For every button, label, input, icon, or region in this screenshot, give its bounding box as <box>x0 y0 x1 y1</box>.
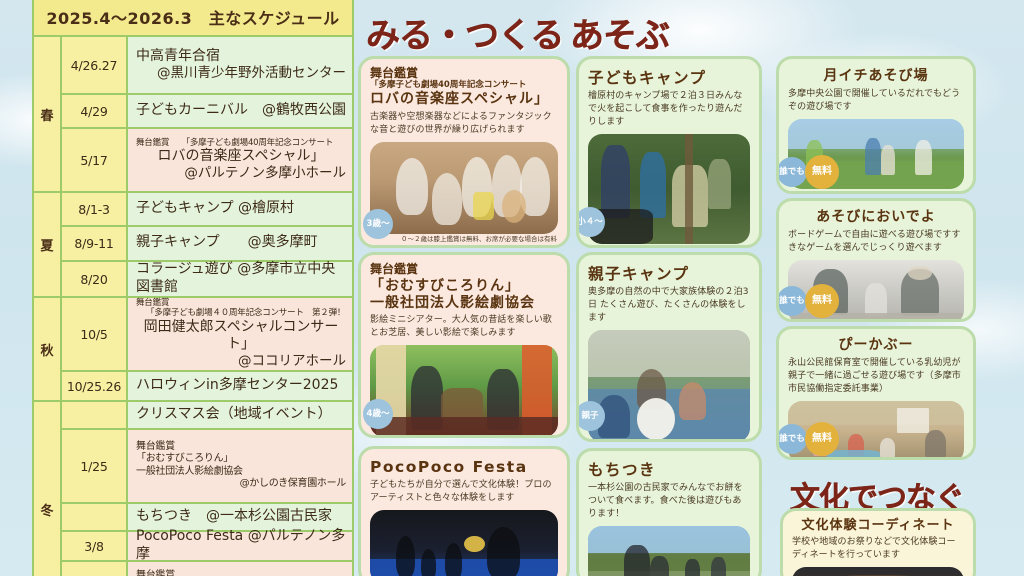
column-heading-miru-tsukuru: みる・つくる <box>366 8 563 57</box>
card-photo-omusubi <box>370 345 558 437</box>
schedule-row[interactable]: 10/25.26ハロウィンin多摩センター2025 <box>62 372 352 400</box>
card-title: 一般社団法人影絵劇協会 <box>370 295 558 312</box>
event-line: 舞台鑑賞 <box>136 570 346 576</box>
card-photo-roba <box>370 142 558 234</box>
card-subtitle: 「おむすびころりん」 <box>370 278 558 295</box>
schedule-title: 2025.4〜2026.3 主なスケジュール <box>34 0 352 37</box>
schedule-row[interactable]: 10/5舞台鑑賞「多摩子ども劇場４０周年記念コンサート 第２弾！岡田健太郎スペシ… <box>62 298 352 372</box>
event-line: もちつき @一本杉公園古民家 <box>136 508 346 525</box>
card-title: ぴーかぶー <box>788 337 964 354</box>
event-line: 岡田健太郎スペシャルコンサート」 <box>136 319 346 353</box>
event-line: 「多摩子ども劇場４０周年記念コンサート 第２弾！ <box>136 308 346 318</box>
card-oyako-camp[interactable]: 親子キャンプ 奥多摩の自然の中で大家族体験の２泊3日 たくさん遊び、たくさんの体… <box>576 252 762 442</box>
event-line: 舞台鑑賞 「多摩子ども劇場40周年記念コンサート <box>136 138 346 148</box>
season-label: 秋 <box>34 298 62 400</box>
card-omusubi-kororin[interactable]: 舞台鑑賞 「おむすびころりん」 一般社団法人影絵劇協会 影絵ミニシアター。大人気… <box>358 252 570 438</box>
event-line: 子どもカーニバル @鶴牧西公園 <box>136 102 346 119</box>
event-line: 舞台鑑賞 <box>136 298 346 308</box>
card-title: ロバの音楽座スペシャル」 <box>370 91 558 108</box>
card-photo-bunka <box>792 567 964 576</box>
card-asobini-oideyo[interactable]: あそびにおいでよ ボードゲームで自由に遊べる遊び場ですすきなゲームを選んでじっく… <box>776 198 976 322</box>
schedule-row[interactable]: 5/17舞台鑑賞 「多摩子ども劇場40周年記念コンサートロバの音楽座スペシャル」… <box>62 129 352 191</box>
event-date: 4/29 <box>62 95 128 127</box>
event-line: 舞台鑑賞 <box>136 441 346 453</box>
price-badge: 無料 <box>805 422 839 456</box>
season-events: 10/5舞台鑑賞「多摩子ども劇場４０周年記念コンサート 第２弾！岡田健太郎スペシ… <box>62 298 352 400</box>
photo-figures <box>370 345 558 437</box>
event-description: 舞台鑑賞「劇団鳥獣戯画 狂言ミュージカル」@八王子市内（予定） <box>128 562 352 576</box>
event-description: 中高青年合宿@黒川青少年野外活動センター <box>128 37 352 93</box>
event-line: @ココリアホール <box>136 353 346 369</box>
event-line: 一般社団法人影絵劇協会 <box>136 466 346 478</box>
card-photo-oyako-camp <box>588 330 750 442</box>
schedule-body: 春4/26.27中高青年合宿@黒川青少年野外活動センター4/29子どもカーニバル… <box>34 37 352 576</box>
card-description: 古楽器や空想楽器などによるファンタジックな音と遊びの世界が繰り広げられます <box>370 111 558 137</box>
season-label: 夏 <box>34 193 62 296</box>
schedule-row[interactable]: 8/20コラージュ遊び @多摩市立中央図書館 <box>62 262 352 296</box>
event-date: 8/20 <box>62 262 128 296</box>
event-description: コラージュ遊び @多摩市立中央図書館 <box>128 262 352 296</box>
card-title: 親子キャンプ <box>588 265 750 283</box>
event-description: 子どもキャンプ @檜原村 <box>128 193 352 225</box>
price-badge: 無料 <box>805 155 839 189</box>
card-caption: ０〜２歳は膝上鑑賞は無料、お席が必要な場合は有料 <box>395 233 563 243</box>
event-description: 親子キャンプ @奥多摩町 <box>128 227 352 260</box>
schedule-row[interactable]: 4/26.27中高青年合宿@黒川青少年野外活動センター <box>62 37 352 95</box>
event-line: クリスマス会（地域イベント） <box>136 406 346 423</box>
schedule-row[interactable]: 1/25舞台鑑賞「おむすびころりん」一般社団法人影絵劇協会@かしのき保育園ホール <box>62 430 352 504</box>
event-description: 舞台鑑賞 「多摩子ども劇場40周年記念コンサートロバの音楽座スペシャル」@パルテ… <box>128 129 352 191</box>
season-events: クリスマス会（地域イベント）1/25舞台鑑賞「おむすびころりん」一般社団法人影絵… <box>62 402 352 576</box>
event-date: 10/25.26 <box>62 372 128 400</box>
card-description: 子どもたちが自分で選んで文化体験！プロのアーティストと色々な体験をします <box>370 479 558 505</box>
event-line: ハロウィンin多摩センター2025 <box>136 377 346 394</box>
audience-badge: 誰でも <box>777 286 807 316</box>
card-description: 学校や地域のお祭りなどで文化体験コーディネートを行っています <box>792 536 964 562</box>
season-label: 冬 <box>34 402 62 576</box>
event-date: 3/15 <box>62 562 128 576</box>
card-roba-concert[interactable]: 舞台鑑賞 「多摩子ども劇場40周年記念コンサート ロバの音楽座スペシャル」 古楽… <box>358 56 570 248</box>
card-kicker: 舞台鑑賞 <box>370 66 558 80</box>
event-date: 10/5 <box>62 298 128 370</box>
card-kodomo-camp[interactable]: 子どもキャンプ 檜原村のキャンプ場で２泊３日みんなで火を起こして食事を作ったり遊… <box>576 56 762 248</box>
event-line: 中高青年合宿 <box>136 48 346 65</box>
event-line: ロバの音楽座スペシャル」 <box>136 148 346 165</box>
event-date <box>62 402 128 428</box>
event-line: 「おむすびころりん」 <box>136 453 346 465</box>
card-mochitsuki[interactable]: もちつき 一本杉公園の古民家でみんなでお餅をついて食べます。食べた後は遊びもあり… <box>576 448 762 576</box>
schedule-row[interactable]: クリスマス会（地域イベント） <box>62 402 352 430</box>
event-description: 舞台鑑賞「多摩子ども劇場４０周年記念コンサート 第２弾！岡田健太郎スペシャルコン… <box>128 298 352 370</box>
schedule-row[interactable]: 4/29子どもカーニバル @鶴牧西公園 <box>62 95 352 129</box>
event-description: クリスマス会（地域イベント） <box>128 402 352 428</box>
card-description: 多摩中央公園で開催しているだれでもどうぞの遊び場です <box>788 88 964 114</box>
event-date: 8/1-3 <box>62 193 128 225</box>
photo-figures <box>792 567 964 576</box>
season-label: 春 <box>34 37 62 191</box>
card-title: もちつき <box>588 461 750 479</box>
event-description: PocoPoco Festa @パルテノン多摩 <box>128 532 352 560</box>
season-row: 夏8/1-3子どもキャンプ @檜原村8/9-11親子キャンプ @奥多摩町8/20… <box>34 193 352 298</box>
photo-figures <box>588 330 750 442</box>
event-date: 5/17 <box>62 129 128 191</box>
audience-badge: 誰でも <box>777 424 807 454</box>
card-description: ボードゲームで自由に遊べる遊び場ですすきなゲームを選んでじっくり遊べます <box>788 229 964 255</box>
schedule-row[interactable]: 3/8PocoPoco Festa @パルテノン多摩 <box>62 532 352 562</box>
event-description: ハロウィンin多摩センター2025 <box>128 372 352 400</box>
age-badge: 小４〜 <box>576 207 605 237</box>
card-description: 一本杉公園の古民家でみんなでお餅をついて食べます。食べた後は遊びもあります！ <box>588 482 750 521</box>
audience-badge: 誰でも <box>777 157 807 187</box>
card-description: 永山公民館保育室で開催している乳幼児が親子で一緒に過ごせる遊び場です（多摩市市民… <box>788 357 964 396</box>
season-events: 4/26.27中高青年合宿@黒川青少年野外活動センター4/29子どもカーニバル … <box>62 37 352 191</box>
photo-figures <box>370 142 558 234</box>
event-date: 8/9-11 <box>62 227 128 260</box>
card-pocopoco-festa[interactable]: PocoPoco Festa 子どもたちが自分で選んで文化体験！プロのアーティス… <box>358 446 570 576</box>
card-subtitle: 「多摩子ども劇場40周年記念コンサート <box>370 80 558 90</box>
season-row: 冬クリスマス会（地域イベント）1/25舞台鑑賞「おむすびころりん」一般社団法人影… <box>34 402 352 576</box>
schedule-row[interactable]: 8/9-11親子キャンプ @奥多摩町 <box>62 227 352 262</box>
schedule-table: 2025.4〜2026.3 主なスケジュール 春4/26.27中高青年合宿@黒川… <box>32 0 354 576</box>
event-date: 3/8 <box>62 532 128 560</box>
card-tsukiichi-asobiba[interactable]: 月イチあそび場 多摩中央公園で開催しているだれでもどうぞの遊び場です 誰でも 無… <box>776 56 976 194</box>
age-badge: 親子 <box>576 401 605 431</box>
card-bunka-taiken-coordinate[interactable]: 文化体験コーディネート 学校や地域のお祭りなどで文化体験コーディネートを行ってい… <box>780 508 976 576</box>
event-line: コラージュ遊び @多摩市立中央図書館 <box>136 261 346 295</box>
event-description: 舞台鑑賞「おむすびころりん」一般社団法人影絵劇協会@かしのき保育園ホール <box>128 430 352 502</box>
card-description: 奥多摩の自然の中で大家族体験の２泊3日 たくさん遊び、たくさんの体験をします <box>588 286 750 325</box>
event-description: もちつき @一本杉公園古民家 <box>128 504 352 530</box>
event-date: 4/26.27 <box>62 37 128 93</box>
event-line: 子どもキャンプ @檜原村 <box>136 200 346 217</box>
card-photo-mochitsuki <box>588 526 750 576</box>
season-row: 秋10/5舞台鑑賞「多摩子ども劇場４０周年記念コンサート 第２弾！岡田健太郎スペ… <box>34 298 352 402</box>
card-photo-kodomo-camp <box>588 134 750 244</box>
card-title: 文化体験コーディネート <box>792 518 964 533</box>
card-title: PocoPoco Festa <box>370 458 558 476</box>
photo-figures <box>370 510 558 576</box>
event-line: @かしのき保育園ホール <box>136 478 346 490</box>
event-line: 親子キャンプ @奥多摩町 <box>136 234 346 251</box>
event-line: @パルテノン多摩小ホール <box>136 165 346 181</box>
column-heading-asobu: あそぶ <box>570 8 669 57</box>
season-row: 春4/26.27中高青年合宿@黒川青少年野外活動センター4/29子どもカーニバル… <box>34 37 352 193</box>
schedule-row[interactable]: 3/15舞台鑑賞「劇団鳥獣戯画 狂言ミュージカル」@八王子市内（予定） <box>62 562 352 576</box>
price-badge: 無料 <box>805 284 839 318</box>
age-badge: 3歳〜 <box>363 209 393 239</box>
card-description: 影絵ミニシアター。大人気の昔話を楽しい歌とお芝居、美しい影絵で楽しみます <box>370 314 558 340</box>
event-date <box>62 504 128 530</box>
card-peekaboo[interactable]: ぴーかぶー 永山公民館保育室で開催している乳幼児が親子で一緒に過ごせる遊び場です… <box>776 326 976 460</box>
card-title: 月イチあそび場 <box>788 68 964 85</box>
age-badge: 4歳〜 <box>363 399 393 429</box>
event-line: PocoPoco Festa @パルテノン多摩 <box>136 528 346 562</box>
card-kicker: 舞台鑑賞 <box>370 262 558 276</box>
event-date: 1/25 <box>62 430 128 502</box>
card-description: 檜原村のキャンプ場で２泊３日みんなで火を起こして食事を作ったり遊んだりします <box>588 90 750 129</box>
schedule-row[interactable]: 8/1-3子どもキャンプ @檜原村 <box>62 193 352 227</box>
card-title: 子どもキャンプ <box>588 69 750 87</box>
photo-figures <box>588 526 750 576</box>
card-title: あそびにおいでよ <box>788 209 964 226</box>
card-photo-poco <box>370 510 558 576</box>
photo-figures <box>588 134 750 244</box>
event-description: 子どもカーニバル @鶴牧西公園 <box>128 95 352 127</box>
season-events: 8/1-3子どもキャンプ @檜原村8/9-11親子キャンプ @奥多摩町8/20コ… <box>62 193 352 296</box>
event-line: @黒川青少年野外活動センター <box>136 65 346 81</box>
